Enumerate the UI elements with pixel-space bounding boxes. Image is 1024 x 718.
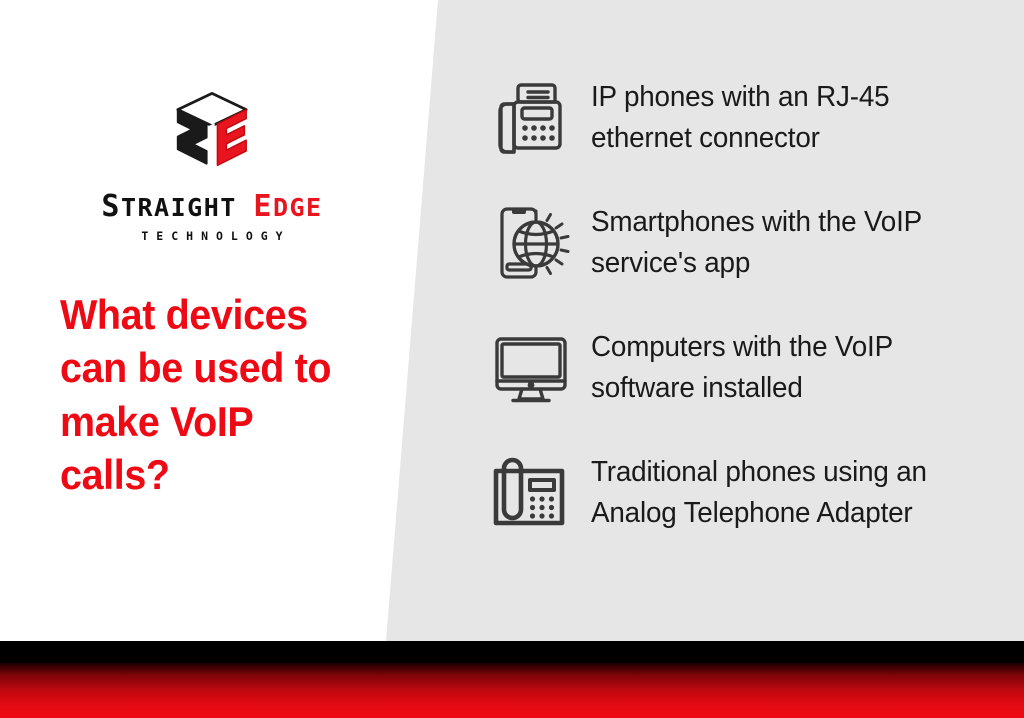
- headline-line-1: What devices: [60, 291, 308, 338]
- bottom-black-bar: [0, 641, 1024, 663]
- list-item-text: Smartphones with the VoIP service's app: [591, 201, 971, 284]
- brand-logo: STRAIGHT EDGE TECHNOLOGY: [62, 88, 362, 243]
- fax-ip-phone-icon: [487, 76, 575, 164]
- list-item-line-1: Computers with the VoIP: [591, 331, 893, 363]
- wordmark-technology: TECHNOLOGY: [62, 229, 362, 243]
- desktop-monitor-icon: [487, 326, 575, 414]
- list-item-text: Traditional phones using an Analog Telep…: [591, 451, 971, 534]
- device-list: IP phones with an RJ-45 ethernet connect…: [487, 76, 987, 576]
- list-item-line-2: service's app: [591, 247, 750, 279]
- list-item-line-2: software installed: [591, 372, 803, 404]
- se-cube-monogram-icon: [167, 88, 257, 178]
- list-item-line-2: Analog Telephone Adapter: [591, 497, 913, 529]
- desk-phone-icon: [487, 451, 575, 539]
- list-item-text: Computers with the VoIP software install…: [591, 326, 971, 409]
- list-item-text: IP phones with an RJ-45 ethernet connect…: [591, 76, 971, 159]
- headline-line-3: make VoIP calls?: [60, 398, 253, 498]
- infographic-canvas: STRAIGHT EDGE TECHNOLOGY What devices ca…: [0, 0, 1024, 718]
- list-item: Smartphones with the VoIP service's app: [487, 201, 987, 326]
- wordmark-edge: EDGE: [253, 193, 322, 222]
- list-item-line-1: IP phones with an RJ-45: [591, 81, 889, 113]
- smartphone-globe-icon: [487, 201, 575, 289]
- list-item-line-2: ethernet connector: [591, 122, 820, 154]
- brand-wordmark: STRAIGHT EDGE: [62, 192, 362, 222]
- list-item: Computers with the VoIP software install…: [487, 326, 987, 451]
- bottom-red-gradient-bar: [0, 663, 1024, 718]
- wordmark-straight: STRAIGHT: [101, 193, 236, 222]
- list-item-line-1: Smartphones with the VoIP: [591, 206, 922, 238]
- page-headline: What devices can be used to make VoIP ca…: [60, 288, 361, 501]
- headline-line-2: can be used to: [60, 344, 331, 391]
- list-item: IP phones with an RJ-45 ethernet connect…: [487, 76, 987, 201]
- list-item-line-1: Traditional phones using an: [591, 456, 927, 488]
- list-item: Traditional phones using an Analog Telep…: [487, 451, 987, 576]
